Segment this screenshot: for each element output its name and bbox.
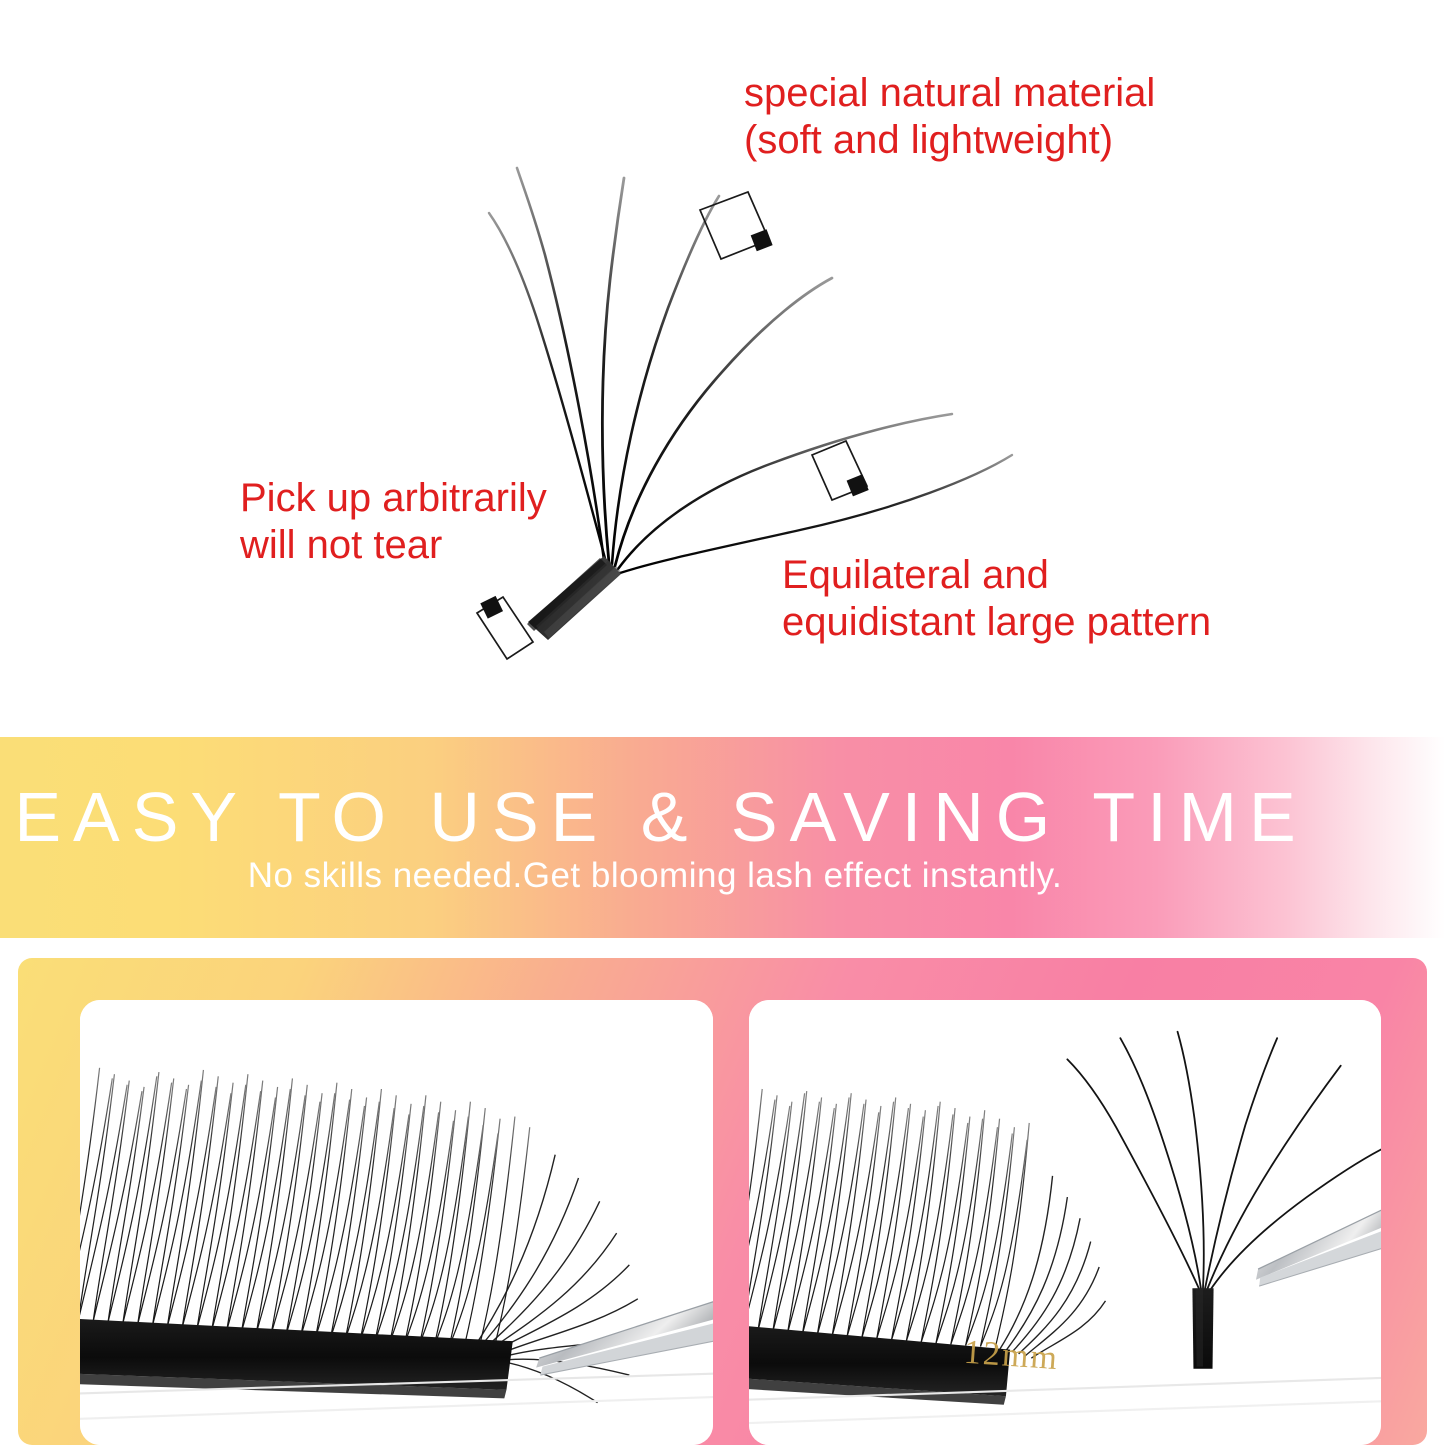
promo-banner-subtitle: No skills needed.Get blooming lash effec… (248, 858, 1063, 893)
promo-banner-title: EASY TO USE & SAVING TIME (14, 782, 1307, 852)
photo-card-lash-fan-pickup: 12mm (749, 1000, 1382, 1445)
feature-diagram-section: special natural material (soft and light… (0, 0, 1445, 730)
marker-middle-icon (812, 441, 869, 500)
lash-fan-illustration (0, 0, 1445, 730)
callout-pattern: Equilateral and equidistant large patter… (782, 552, 1211, 646)
promo-banner: EASY TO USE & SAVING TIME No skills need… (0, 737, 1445, 938)
promo-banner-content: EASY TO USE & SAVING TIME No skills need… (0, 737, 1310, 938)
marker-base-icon (477, 596, 533, 659)
marker-top-icon (700, 192, 773, 259)
callout-material: special natural material (soft and light… (744, 70, 1155, 164)
product-photo-section: 12mm (18, 958, 1427, 1445)
callout-pickup: Pick up arbitrarily will not tear (240, 475, 547, 569)
lash-fan-pickup-photo (749, 1000, 1382, 1445)
product-photo-grid: 12mm (18, 958, 1427, 1445)
photo-card-lash-strip-tray: 12mm (80, 1000, 713, 1445)
lash-strip-photo (80, 1000, 713, 1445)
